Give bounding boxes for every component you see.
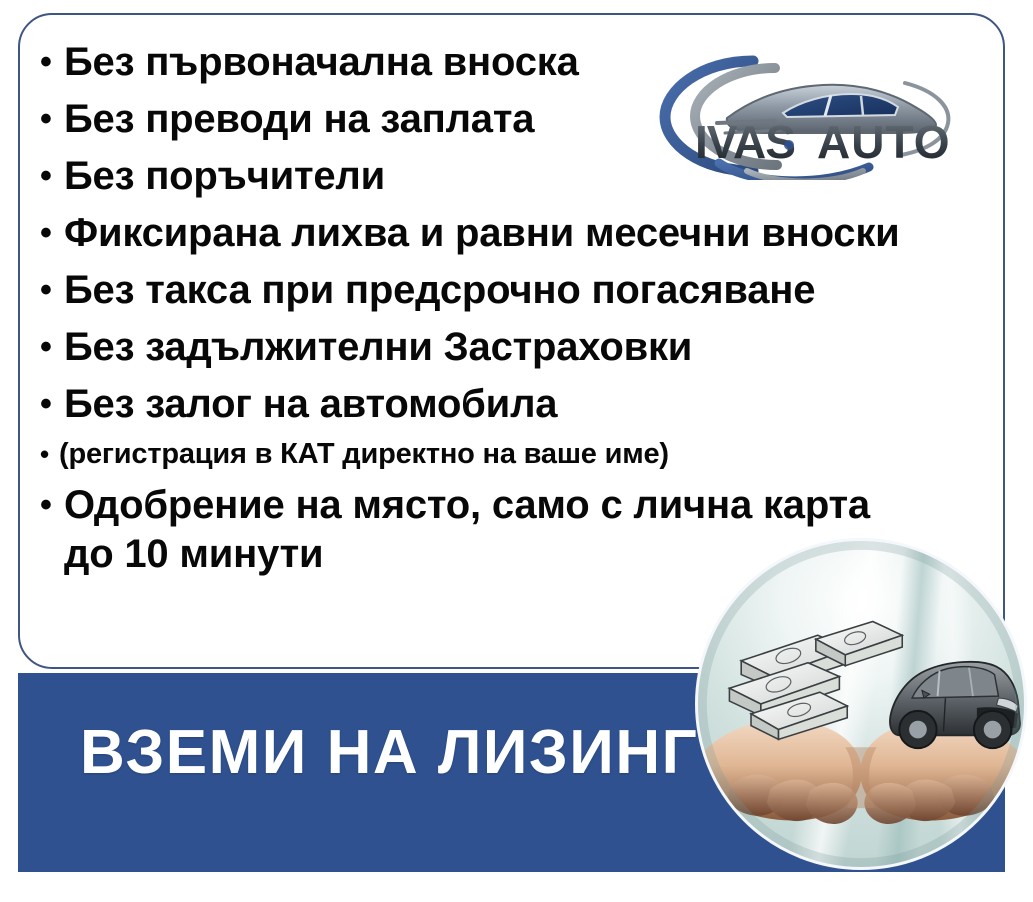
- list-item-note: (регистрация в КАТ директно на ваше име): [38, 433, 993, 475]
- logo-wordmark-secondary: AUTO: [817, 116, 951, 168]
- logo-accent-dot: [784, 140, 794, 150]
- list-item: Без такса при предсрочно погасяване: [38, 266, 993, 315]
- advertisement-root: Без първоначална вноска Без преводи на з…: [0, 0, 1033, 902]
- list-item: Без залог на автомобила: [38, 380, 993, 429]
- logo-wordmark-primary: IVAS: [695, 116, 795, 168]
- list-item: Без задължителни Застраховки: [38, 323, 993, 372]
- car-sketch-icon: [890, 662, 1020, 748]
- list-item: Фиксирана лихва и равни месечни вноски: [38, 209, 993, 258]
- money-stack-icon: [729, 622, 902, 740]
- hero-photo-circle: [695, 538, 1027, 870]
- cta-label: ВЗЕМИ НА ЛИЗИНГ: [80, 719, 698, 787]
- brand-logo: IVAS AUTO: [655, 45, 965, 180]
